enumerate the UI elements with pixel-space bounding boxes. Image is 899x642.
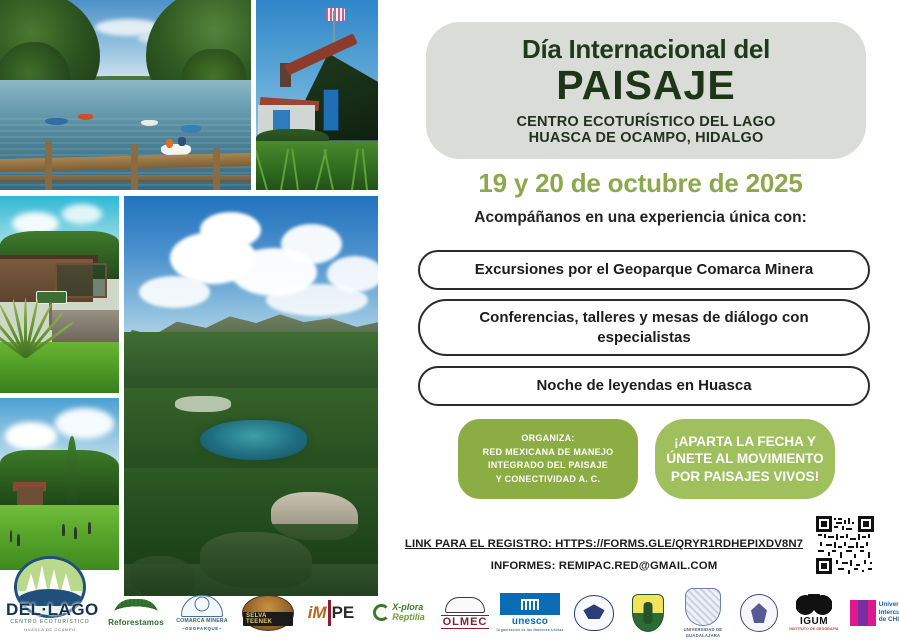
sponsor-logo-strip: Reforestamos COMARCA MINERA ~GEOPARQUE~ … (0, 583, 899, 642)
reptilia-label: Reptilia (392, 613, 425, 622)
photo-river (0, 0, 251, 190)
event-date: 19 y 20 de octubre de 2025 (382, 168, 899, 199)
pine-tree-icon (61, 573, 71, 591)
organiza-line-1: RED MEXICANA DE MANEJO (483, 446, 614, 460)
cloud (5, 422, 57, 450)
igum-sublabel: INSTITUTO DE GEOGRAFÍA (789, 627, 838, 631)
person (17, 534, 20, 546)
person (10, 530, 13, 542)
window (323, 89, 339, 131)
tree (67, 436, 78, 508)
unesco-logo: unesco Organización de las Naciones Unid… (494, 587, 566, 639)
igum-logo: IGUM INSTITUTO DE GEOGRAFÍA (786, 587, 842, 639)
universidad-de-guadalajara-logo: UNIVERSIDAD DE GUADALAJARA (674, 587, 732, 639)
impe-pe-glyph: PE (332, 603, 355, 623)
geopark-dome-icon (181, 595, 223, 617)
unam-shield-icon (574, 595, 614, 631)
unam-logo (566, 587, 622, 639)
person (88, 522, 91, 534)
selva-teenek-badge-icon: SELVA TEENEK (242, 595, 294, 631)
uaem-circle-icon (740, 594, 778, 632)
universidad-intercultural-de-chiapas-logo: Universidad Intercultural de CHIAPAS (842, 587, 899, 639)
organiza-line-2: INTEGRADO DEL PAISAJE (488, 459, 608, 473)
clearing (175, 396, 231, 412)
reforestamos-arc-icon (113, 599, 159, 617)
person (62, 524, 65, 536)
cloud (139, 276, 210, 308)
lake (200, 420, 307, 460)
chiapas-label-2: Intercultural (879, 609, 899, 616)
del-lago-tagline: CENTRO ECOTURÍSTICO (6, 619, 94, 625)
impe-i-glyph: iM (308, 603, 327, 623)
unesco-label: unesco (512, 616, 548, 627)
uaem-logo (732, 587, 786, 639)
cloud (62, 204, 102, 224)
title-line-1: Día Internacional del (522, 35, 770, 64)
cta-line-2: ÚNETE AL MOVIMIENTO (666, 450, 823, 467)
comarca-minera-logo: COMARCA MINERA ~GEOPARQUE~ (168, 587, 236, 639)
comarca-minera-sublabel: ~GEOPARQUE~ (182, 626, 222, 631)
chiapas-mark-icon (850, 600, 876, 626)
antenna (326, 8, 346, 21)
pine-tree-icon (37, 565, 47, 589)
registration-link[interactable]: LINK PARA EL REGISTRO: HTTPS://FORMS.GLE… (394, 538, 814, 550)
unesco-banner (500, 593, 560, 615)
selva-teenek-label: SELVA TEENEK (243, 612, 293, 626)
cloud (327, 256, 378, 292)
agave-plant (0, 298, 57, 357)
organiza-heading: ORGANIZA: (521, 432, 574, 446)
venue-location: HUASCA DE OCAMPO, HIDALGO (529, 130, 764, 146)
reforestamos-logo: Reforestamos (104, 587, 168, 639)
udg-label: UNIVERSIDAD DE (684, 627, 723, 632)
person (166, 139, 174, 149)
comarca-minera-label: COMARCA MINERA (176, 618, 228, 624)
udg-sublabel: GUADALAJARA (686, 633, 721, 638)
cloud (200, 212, 261, 248)
page-title: PAISAJE (556, 64, 735, 107)
activity-pill-noche-leyendas[interactable]: Noche de leyendas en Huasca (418, 366, 870, 406)
stone-wall (52, 310, 119, 342)
del-lago-wordmark: DEL·LAGO (6, 600, 94, 620)
guanajuato-shield-icon (632, 594, 664, 632)
impe-logo: iM PE (300, 587, 362, 639)
reforestamos-label: Reforestamos (108, 618, 164, 627)
del-lago-location: HUASCA DE OCAMPO (6, 627, 94, 632)
selva-teenek-logo: SELVA TEENEK (236, 587, 300, 639)
header-capsule: Día Internacional del PAISAJE CENTRO ECO… (426, 22, 866, 159)
guanajuato-logo (622, 587, 674, 639)
person (74, 527, 77, 539)
activity-pill-excursiones[interactable]: Excursiones por el Geoparque Comarca Min… (418, 250, 870, 290)
chiapas-label-3: de CHIAPAS (879, 616, 899, 623)
organiza-box: ORGANIZA: RED MEXICANA DE MANEJO INTEGRA… (458, 419, 638, 499)
olmec-label: OLMEC (441, 615, 490, 629)
activity-pill-conferencias[interactable]: Conferencias, talleres y mesas de diálog… (418, 299, 870, 356)
photo-cabana (0, 196, 119, 393)
call-to-action-box: ¡APARTA LA FECHA Y ÚNETE AL MOVIMIENTO P… (655, 419, 835, 499)
del-lago-logo: DEL·LAGO CENTRO ECOTURÍSTICO HUASCA DE O… (6, 556, 94, 642)
udg-crest-icon (685, 588, 721, 626)
organiza-line-3: Y CONECTIVIDAD A. C. (496, 473, 601, 487)
explora-reptilia-logo: X-plora Reptilia (362, 587, 436, 639)
cloud (281, 224, 342, 264)
photo-cabin (256, 0, 378, 190)
railing-post (213, 148, 220, 190)
photo-aerial (124, 196, 378, 596)
explora-circle-icon (373, 604, 390, 621)
impe-bar-icon (328, 600, 331, 626)
photo-lawn (0, 398, 119, 570)
cta-line-3: POR PAISAJES VIVOS! (671, 468, 819, 485)
igum-label: IGUM (800, 616, 828, 627)
contact-email-line[interactable]: INFORMES: REMIPAC.RED@GMAIL.COM (394, 560, 814, 572)
olmec-head-icon (445, 597, 485, 613)
venue-name: CENTRO ECOTURÍSTICO DEL LAGO (516, 114, 775, 130)
chiapas-label-1: Universidad (879, 601, 899, 608)
pine-tree-icon (49, 569, 59, 590)
unesco-sublabel: Organización de las Naciones Unidas (496, 628, 563, 632)
cta-line-1: ¡APARTA LA FECHA Y (674, 433, 816, 450)
poster-canvas: DEL·LAGO CENTRO ECOTURÍSTICO HUASCA DE O… (0, 0, 899, 642)
content-column: Día Internacional del PAISAJE CENTRO ECO… (382, 0, 899, 642)
boat (78, 114, 93, 120)
olmec-logo: OLMEC (436, 587, 494, 639)
igum-mark-icon (796, 594, 832, 616)
railing-post (45, 141, 52, 190)
railing-post (131, 144, 138, 190)
person (178, 137, 186, 147)
pine-tree-icon (26, 573, 36, 591)
unesco-temple-icon (521, 599, 539, 610)
invite-heading: Acompáñanos en una experiencia única con… (382, 209, 899, 227)
boat (181, 125, 201, 133)
qr-code[interactable] (816, 516, 874, 574)
